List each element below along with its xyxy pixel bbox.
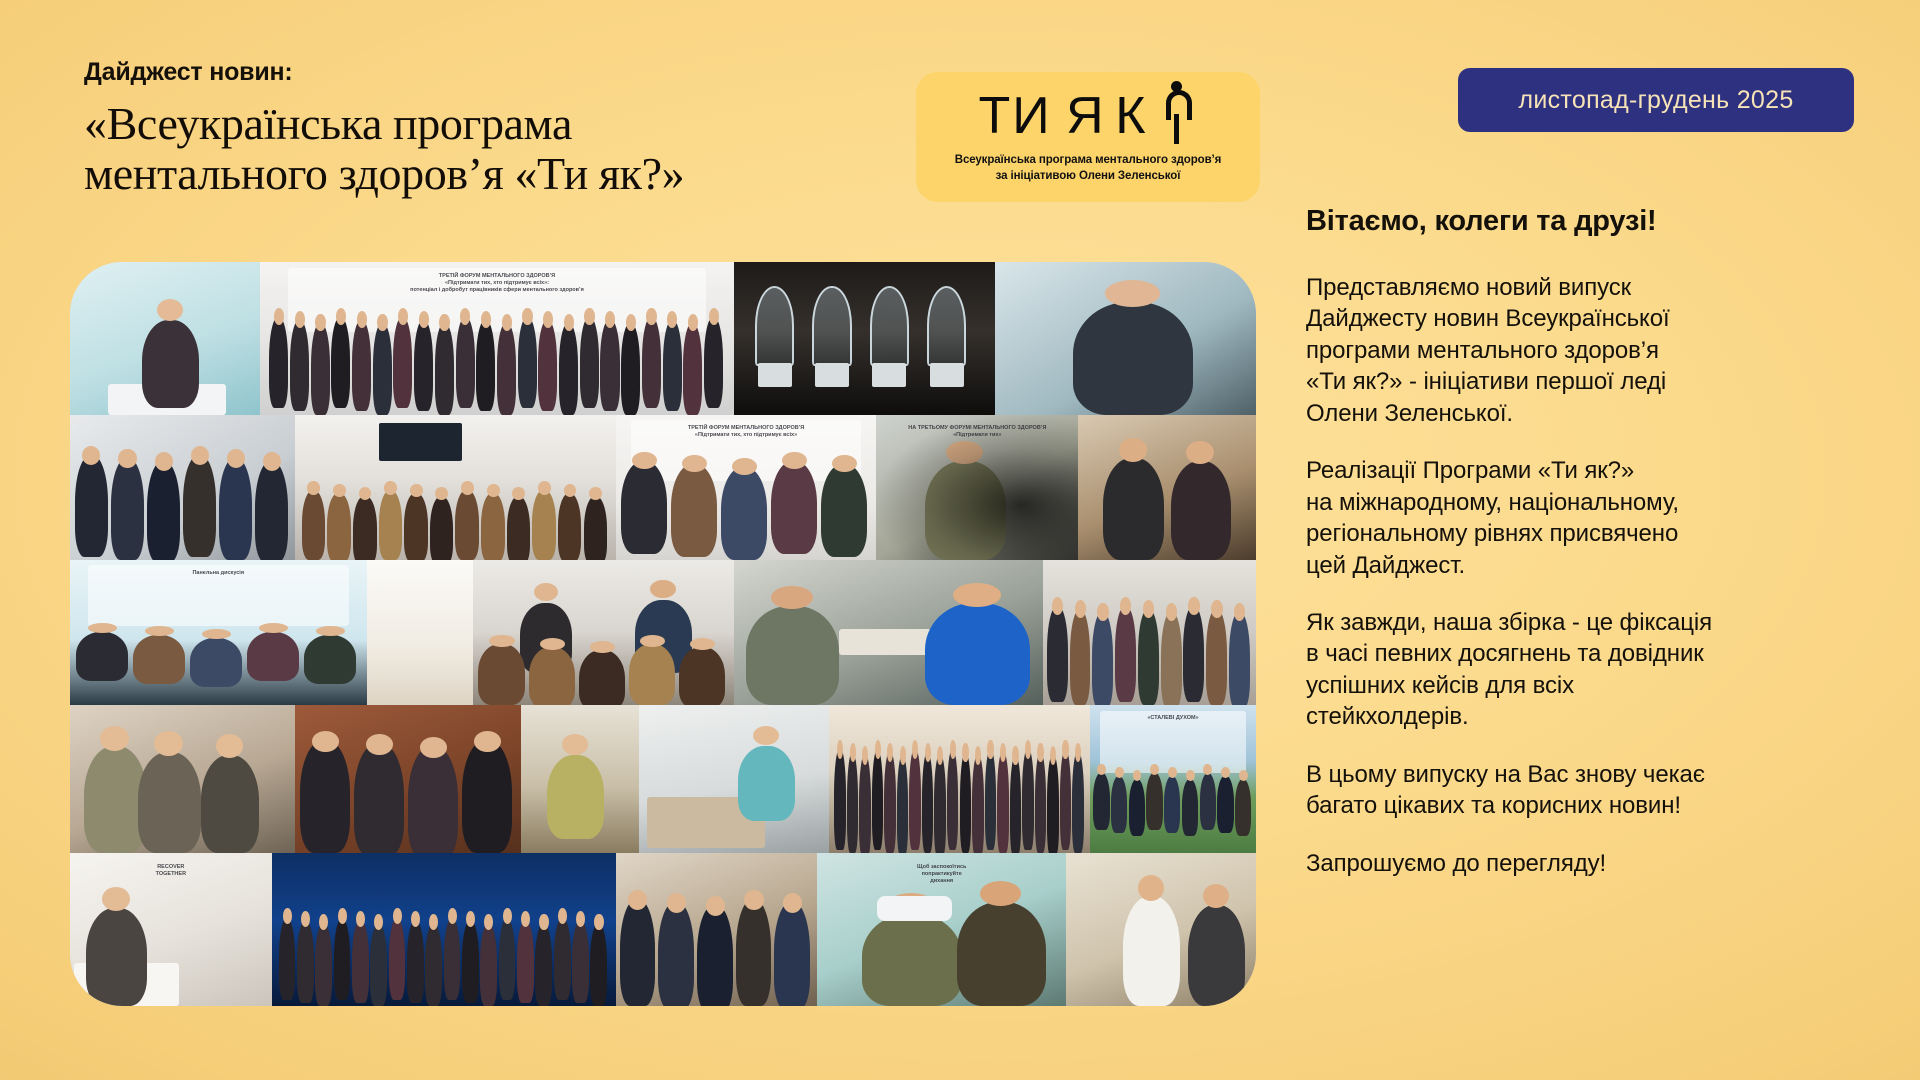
photo-rollup-banner [367,560,474,705]
photo-caption: Щоб заспокоїтисьпопрактикуйтедихання [817,864,1066,885]
header-block: Дайджест новин: «Всеукраїнська програма … [84,58,844,198]
logo-text-ya-mirrored: R [1064,90,1104,142]
photo-caption: RECOVERTOGETHER [70,864,272,878]
photo-five-speakers-backdrop: ТРЕТІЙ ФОРУМ МЕНТАЛЬНОГО ЗДОРОВ’Я«Підтри… [616,415,877,560]
photo-caption: ТРЕТІЙ ФОРУМ МЕНТАЛЬНОГО ЗДОРОВ’Я«Підтри… [260,273,734,294]
photo-vr-headset-soldier: Щоб заспокоїтисьпопрактикуйтедихання [817,853,1066,1006]
photo-caption: НА ТРЕТЬОМУ ФОРУМІ МЕНТАЛЬНОГО ЗДОРОВ’Я«… [876,425,1078,439]
question-mark-icon [1160,90,1198,144]
page-title: «Всеукраїнська програма ментального здор… [84,99,844,198]
collage-row: ТРЕТІЙ ФОРУМ МЕНТАЛЬНОГО ЗДОРОВ’Я«Підтри… [70,415,1256,560]
welcome-title: Вітаємо, колеги та друзі! [1306,205,1886,238]
photo-caption: ТРЕТІЙ ФОРУМ МЕНТАЛЬНОГО ЗДОРОВ’Я«Підтри… [616,425,877,439]
photo-large-staff-group [829,705,1090,854]
photo-recover-together-podium: RECOVERTOGETHER [70,853,272,1006]
photo-office-desk-consult [639,705,829,854]
welcome-paragraph: Як завжди, наша збірка - це фіксація в ч… [1306,607,1886,733]
photo-doctor-with-patient [1066,853,1256,1006]
photo-panel-discussion-stage: Панельна дискусія [70,560,367,705]
collage-row: «СТАЛЕВІ ДУХОМ» [70,705,1256,854]
photo-family-with-child [70,705,295,854]
photo-caption: Панельна дискусія [70,570,367,577]
collage-row: Панельна дискусія [70,560,1256,705]
logo-text-ti: ТИ [979,90,1052,142]
logo-text-k: К [1115,90,1147,142]
photo-teen-group-brick-wall [295,705,520,854]
logo-wordmark: ТИ R К [979,90,1198,144]
welcome-paragraph: В цьому випуску на Вас знову чекає багат… [1306,759,1886,822]
issue-date-badge: листопад-грудень 2025 [1458,68,1854,132]
photo-delegation-hallway [70,415,295,560]
photo-award-trophies [734,262,995,415]
photo-first-lady-podium [70,262,260,415]
photo-youth-circle-hall [1043,560,1256,705]
photo-delegation-doorway [616,853,818,1006]
welcome-paragraph: Представляємо новий випуск Дайджесту нов… [1306,272,1886,429]
photo-blue-stage-ceremony [272,853,616,1006]
logo-subtitle: Всеукраїнська програма ментального здоро… [955,153,1222,183]
photo-collage: ТРЕТІЙ ФОРУМ МЕНТАЛЬНОГО ЗДОРОВ’Я«Підтри… [70,262,1256,1006]
header-kicker: Дайджест новин: [84,58,844,87]
photo-award-winner-speaker [995,262,1256,415]
collage-row: ТРЕТІЙ ФОРУМ МЕНТАЛЬНОГО ЗДОРОВ’Я«Підтри… [70,262,1256,415]
photo-sport-field-veterans: «СТАЛЕВІ ДУХОМ» [1090,705,1256,854]
welcome-paragraph: Реалізації Програми «Ти як?» на міжнарод… [1306,455,1886,581]
photo-caption: «СТАЛЕВІ ДУХОМ» [1090,715,1256,722]
photo-craft-workshop [521,705,640,854]
photo-forum-group-large: ТРЕТІЙ ФОРУМ МЕНТАЛЬНОГО ЗДОРОВ’Я«Підтри… [260,262,734,415]
welcome-paragraph: Запрошуємо до перегляду! [1306,848,1886,879]
photo-military-woman-speaking: НА ТРЕТЬОМУ ФОРУМІ МЕНТАЛЬНОГО ЗДОРОВ’Я«… [876,415,1078,560]
photo-two-women-lobby [1078,415,1256,560]
collage-row: RECOVERTOGETHERЩоб заспокоїтисьпопрактик… [70,853,1256,1006]
program-logo-card: ТИ R К Всеукраїнська програма ментальног… [916,72,1260,202]
photo-library-lecture-audience [295,415,615,560]
photo-classroom-training [473,560,734,705]
photo-chess-veterans [734,560,1042,705]
welcome-column: Вітаємо, колеги та друзі! Представляємо … [1306,205,1886,905]
